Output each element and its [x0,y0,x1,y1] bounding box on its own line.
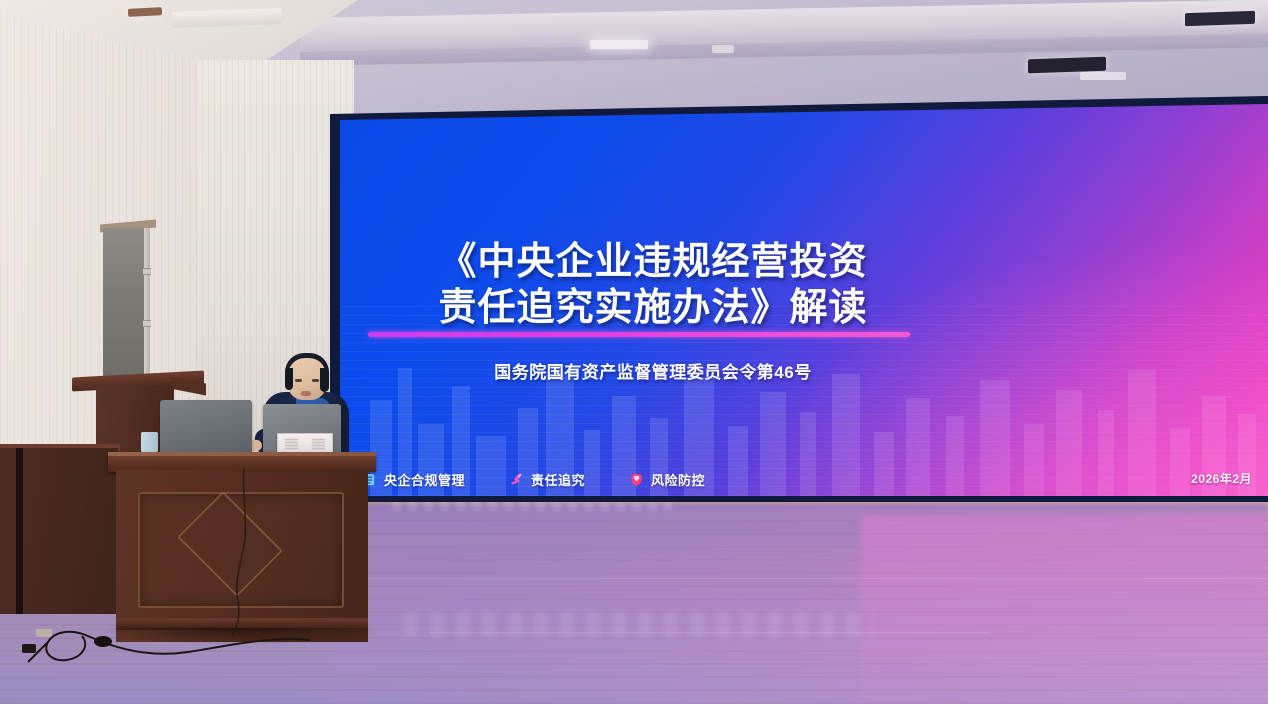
door-jamb [144,228,150,392]
slide-title-underline [368,332,910,337]
presenter-hair-side [320,368,329,392]
name-card-text [285,438,298,449]
drinking-cup [141,432,158,454]
ceiling-spotlight [1185,11,1255,26]
ceiling-light-glow [1080,72,1126,80]
power-plug [36,629,52,637]
floor-reflected-text [404,612,874,638]
presenter-eye [295,379,302,382]
side-cabinet-edge [16,448,23,614]
door-hinge [143,268,151,275]
name-card-text [312,438,325,449]
conference-room-photo: 《中央企业违规经营投资 责任追究实施办法》解读 国务院国有资产监督管理委员会令第… [0,0,1268,704]
presenter-hair-side [285,368,293,390]
slide-tag-accountability: 责任追究 [509,470,585,489]
podium-top-highlight [108,452,376,456]
slide-title-line-2: 责任追究实施办法》解读 [368,285,938,331]
slide-title: 《中央企业违规经营投资 责任追究实施办法》解读 [368,239,938,331]
laptop-left[interactable] [160,400,252,456]
slide-subtitle: 国务院国有资产监督管理委员会令第46号 [368,358,938,383]
floor-seam [430,632,990,633]
slide-tag-label: 风险防控 [651,470,705,489]
slide-tag-row: 央企合规管理 责任追究 风险防控 [362,470,705,489]
floor-pink-reflection [860,514,1268,704]
cable-connector [22,644,36,653]
gavel-icon [509,472,524,487]
slide-tag-compliance: 央企合规管理 [362,470,465,489]
presenter-eye [312,379,319,382]
ceiling-spotlight [1028,57,1106,74]
ceiling-light-fixture [590,40,648,49]
doorway [103,228,149,388]
microphone-base [94,636,112,647]
slide-title-line-1: 《中央企业违规经营投资 [368,239,938,285]
ceiling-light-fixture [712,45,734,53]
floor-cable [18,606,318,676]
slide-tag-risk-control: 风险防控 [629,470,705,489]
presenter-mouth [301,391,311,396]
shield-icon [629,472,644,487]
desk-name-card [277,433,333,453]
led-screen: 《中央企业违规经营投资 责任追究实施办法》解读 国务院国有资产监督管理委员会令第… [340,104,1268,496]
slide-tag-label: 央企合规管理 [384,470,465,489]
slide-tag-label: 责任追究 [531,470,585,489]
door-hinge [143,320,151,327]
slide-date: 2026年2月 [1191,470,1252,487]
